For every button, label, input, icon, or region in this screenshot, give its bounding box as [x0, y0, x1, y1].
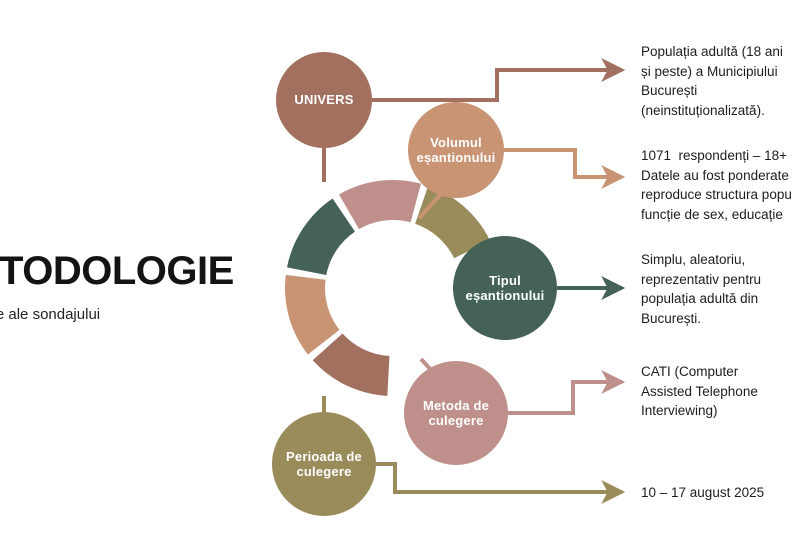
callout-univers-line: (neinstituționalizată).	[641, 101, 783, 121]
node-circle-perioada[interactable]	[272, 412, 376, 516]
callout-univers: Populația adultă (18 aniși peste) a Muni…	[641, 42, 783, 120]
seg-volum	[285, 275, 339, 355]
callout-volum-line: funcție de sex, educație	[641, 205, 792, 225]
callout-tip-line: București.	[641, 309, 761, 329]
callout-univers-line: București	[641, 81, 783, 101]
callout-perioada: 10 – 17 august 2025	[641, 483, 764, 503]
callout-volum-line: Datele au fost ponderate	[641, 166, 792, 186]
callout-tip-line: populația adultă din	[641, 289, 761, 309]
node-circle-metoda[interactable]	[404, 361, 508, 465]
callout-volum: 1071 respondenți – 18+Datele au fost pon…	[641, 146, 792, 224]
connector-volum	[504, 150, 622, 177]
node-circle-volum[interactable]	[408, 102, 504, 198]
callout-metoda-line: Interviewing)	[641, 401, 758, 421]
callout-tip-line: Simplu, aleatoriu,	[641, 250, 761, 270]
callout-tip: Simplu, aleatoriu,reprezentativ pentrupo…	[641, 250, 761, 328]
connector-univers	[372, 70, 622, 100]
connector-perioada	[376, 464, 622, 492]
seg-tip	[287, 198, 355, 275]
seg-univers	[313, 334, 390, 396]
callout-volum-line: reproduce structura popu	[641, 185, 792, 205]
seg-metoda	[339, 180, 421, 229]
callout-univers-line: și peste) a Municipiului	[641, 62, 783, 82]
callout-metoda-line: CATI (Computer	[641, 362, 758, 382]
node-circle-univers[interactable]	[276, 52, 372, 148]
callout-univers-line: Populația adultă (18 ani	[641, 42, 783, 62]
callout-volum-line: 1071 respondenți – 18+	[641, 146, 792, 166]
callout-metoda: CATI (ComputerAssisted TelephoneIntervie…	[641, 362, 758, 421]
callout-metoda-line: Assisted Telephone	[641, 382, 758, 402]
callout-tip-line: reprezentativ pentru	[641, 270, 761, 290]
slide-canvas: METODOLOGIE le tehnice ale sondajului UN…	[0, 0, 800, 534]
connector-metoda	[508, 382, 622, 413]
node-circle-tip[interactable]	[453, 236, 557, 340]
callout-perioada-line: 10 – 17 august 2025	[641, 483, 764, 503]
